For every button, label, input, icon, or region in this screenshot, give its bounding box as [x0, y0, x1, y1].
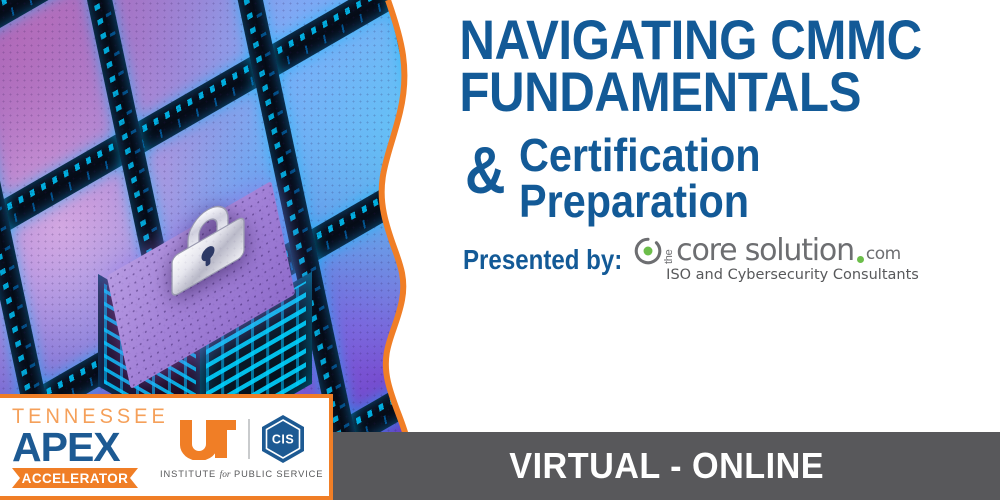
svg-text:CIS: CIS — [272, 433, 294, 447]
logo-the-text: the — [663, 238, 675, 264]
logo-divider — [248, 419, 250, 459]
institute-for-public-service-text: INSTITUTE for PUBLIC SERVICE — [160, 469, 323, 480]
wavy-orange-divider — [358, 0, 448, 500]
logo-tld: com — [866, 244, 901, 264]
ips-pre: INSTITUTE — [160, 469, 216, 479]
logo-wordmark: core solution — [676, 236, 854, 266]
ips-for: for — [220, 470, 231, 480]
sponsor-logo-card: TENNESSEE APEX ACCELERATOR CIS — [0, 394, 333, 500]
flyer-canvas: NAVIGATING CMMC FUNDAMENTALS & Certifica… — [0, 0, 1000, 500]
ips-post: PUBLIC SERVICE — [234, 469, 323, 479]
presented-by-row: Presented by: the core solution com ISO … — [447, 224, 1000, 283]
ampersand-glyph: & — [465, 144, 506, 197]
page-title: NAVIGATING CMMC FUNDAMENTALS — [447, 0, 934, 118]
presenter-logo: the core solution com ISO and Cybersecur… — [634, 236, 919, 283]
accelerator-text: ACCELERATOR — [12, 468, 138, 488]
presented-by-label: Presented by: — [463, 244, 622, 276]
logo-green-dot — [857, 256, 864, 263]
subtitle: Certification Preparation — [519, 132, 761, 224]
ut-ips-logo: CIS INSTITUTE for PUBLIC SERVICE — [160, 414, 323, 480]
ut-monogram-icon — [178, 418, 238, 460]
cis-hexagon-icon: CIS — [260, 414, 306, 464]
presenter-tagline: ISO and Cybersecurity Consultants — [666, 267, 919, 283]
content-panel: NAVIGATING CMMC FUNDAMENTALS & Certifica… — [447, 0, 1000, 432]
subtitle-row: & Certification Preparation — [447, 118, 1000, 224]
apex-tennessee-text: TENNESSEE — [12, 406, 134, 427]
apex-word-text: APEX — [12, 428, 140, 467]
accelerator-ribbon: ACCELERATOR — [12, 468, 138, 488]
delivery-mode-text: VIRTUAL - ONLINE — [509, 445, 824, 487]
target-circle-icon — [634, 237, 662, 265]
tennessee-apex-accelerator-logo: TENNESSEE APEX ACCELERATOR — [12, 406, 140, 489]
delivery-mode-bar: VIRTUAL - ONLINE — [333, 432, 1000, 500]
